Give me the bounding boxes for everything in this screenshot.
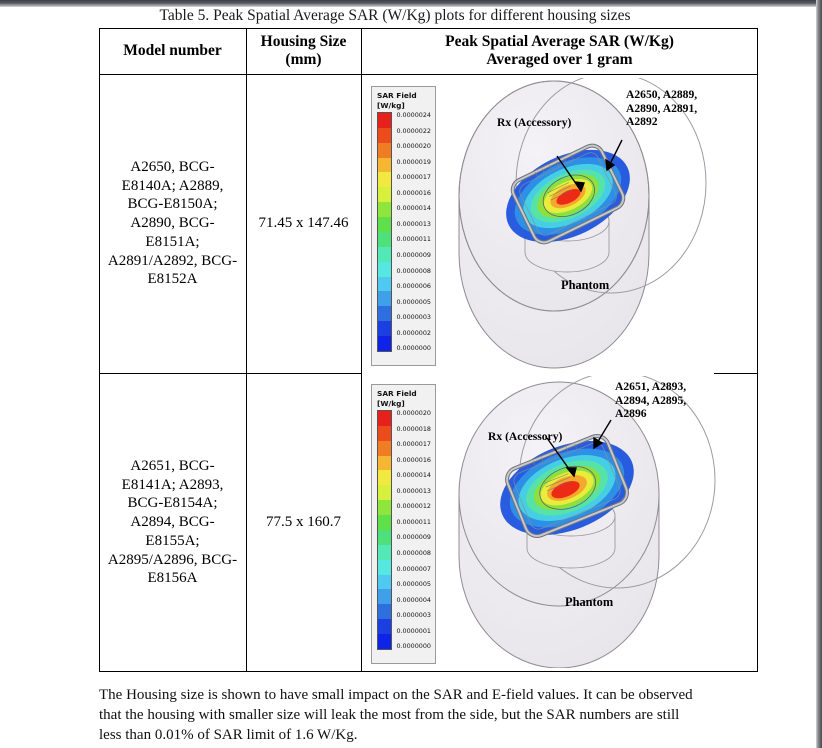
- legend-colorbar-segment: [378, 485, 391, 500]
- rx-accessory-annotation: Rx (Accessory): [497, 116, 571, 130]
- legend-tick-label: 0.0000000: [396, 345, 431, 351]
- column-header-peak-sar-line2: Averaged over 1 gram: [486, 51, 632, 69]
- legend-colorbar-segment: [378, 530, 391, 545]
- legend-colorbar-segment: [378, 172, 391, 187]
- device-model-annotation: A2651, A2893, A2894, A2895, A2896: [615, 380, 686, 421]
- legend-colorbar-segment: [378, 232, 391, 247]
- housing-size-value: 77.5 x 160.7: [266, 514, 341, 531]
- column-header-housing-size-line2: (mm): [285, 51, 321, 69]
- sar-3d-plot-row1: [439, 78, 754, 370]
- legend-title: SAR Field: [377, 91, 431, 101]
- legend-tick-label: 0.0000009: [396, 252, 431, 258]
- legend-tick-label: 0.0000014: [396, 205, 431, 211]
- legend-colorbar-segment: [378, 604, 391, 619]
- legend-colorbar-segment: [378, 321, 391, 336]
- closing-paragraph: The Housing size is shown to have small …: [99, 685, 699, 745]
- device-model-annotation: A2650, A2889, A2890, A2891, A2892: [626, 88, 697, 129]
- column-header-housing-size: Housing Size (mm): [246, 28, 361, 74]
- legend-tick-labels: 0.00000200.00000180.00000170.00000160.00…: [392, 410, 431, 650]
- legend-tick-label: 0.0000017: [396, 441, 431, 447]
- legend-tick-label: 0.0000001: [396, 628, 431, 634]
- table-row: A2650, BCG-E8140A; A2889, BCG-E8150A; A2…: [99, 74, 246, 373]
- legend-colorbar-segment: [378, 441, 391, 456]
- table-caption: Table 5. Peak Spatial Average SAR (W/Kg)…: [0, 7, 790, 25]
- legend-tick-label: 0.0000004: [396, 597, 431, 603]
- legend-colorbar-segment: [378, 470, 391, 485]
- legend-tick-label: 0.0000020: [396, 143, 431, 149]
- legend-colorbar-segment: [378, 545, 391, 560]
- legend-tick-label: 0.0000005: [396, 581, 431, 587]
- legend-tick-label: 0.0000003: [396, 314, 431, 320]
- column-header-model-number: Model number: [99, 28, 246, 74]
- legend-colorbar-segment: [378, 291, 391, 306]
- legend-colorbar-segment: [378, 515, 391, 530]
- legend-colorbar-segment: [378, 456, 391, 471]
- model-number-value: A2651, BCG-E8141A; A2893, BCG-E8154A; A2…: [105, 457, 240, 588]
- legend-colorbar-segment: [378, 426, 391, 441]
- sar-plot-cell-row2: SAR Field [W/kg] 0.00000200.00000180.000…: [361, 374, 758, 671]
- column-header-model-number-label: Model number: [123, 42, 222, 60]
- legend-tick-label: 0.0000013: [396, 488, 431, 494]
- housing-size-cell: 71.45 x 147.46: [246, 74, 361, 373]
- legend-tick-label: 0.0000009: [396, 534, 431, 540]
- legend-unit: [W/kg]: [377, 399, 431, 409]
- legend-tick-label: 0.0000024: [396, 112, 431, 118]
- legend-colorbar: [377, 112, 392, 352]
- legend-tick-label: 0.0000016: [396, 457, 431, 463]
- legend-colorbar-segment: [378, 277, 391, 292]
- legend-unit: [W/kg]: [377, 101, 431, 111]
- legend-tick-labels: 0.00000240.00000220.00000200.00000190.00…: [392, 112, 431, 352]
- legend-tick-label: 0.0000002: [396, 330, 431, 336]
- sar-field-legend: SAR Field [W/kg] 0.00000200.00000180.000…: [371, 384, 436, 664]
- legend-tick-label: 0.0000003: [396, 612, 431, 618]
- legend-tick-label: 0.0000007: [396, 566, 431, 572]
- model-number-value: A2650, BCG-E8140A; A2889, BCG-E8150A; A2…: [105, 158, 240, 289]
- legend-tick-label: 0.0000020: [396, 410, 431, 416]
- legend-colorbar-segment: [378, 589, 391, 604]
- legend-colorbar-segment: [378, 306, 391, 321]
- legend-colorbar-segment: [378, 411, 391, 426]
- legend-tick-label: 0.0000022: [396, 128, 431, 134]
- legend-colorbar-segment: [378, 500, 391, 515]
- sar-field-legend: SAR Field [W/kg] 0.00000240.00000220.000…: [371, 86, 436, 366]
- housing-size-value: 71.45 x 147.46: [259, 215, 349, 232]
- legend-colorbar-segment: [378, 217, 391, 232]
- column-header-peak-sar-line1: Peak Spatial Average SAR (W/Kg): [445, 33, 674, 51]
- column-header-peak-sar: Peak Spatial Average SAR (W/Kg) Averaged…: [361, 28, 758, 74]
- window-top-bar: [0, 0, 822, 7]
- window-right-scrollbar[interactable]: [816, 0, 822, 748]
- legend-colorbar-segment: [378, 336, 391, 351]
- legend-colorbar-segment: [378, 143, 391, 158]
- legend-colorbar-segment: [378, 262, 391, 277]
- legend-colorbar-segment: [378, 247, 391, 262]
- legend-tick-label: 0.0000019: [396, 159, 431, 165]
- legend-tick-label: 0.0000011: [396, 236, 431, 242]
- legend-tick-label: 0.0000000: [396, 643, 431, 649]
- legend-colorbar-segment: [378, 128, 391, 143]
- legend-tick-label: 0.0000008: [396, 268, 431, 274]
- legend-tick-label: 0.0000017: [396, 174, 431, 180]
- legend-title: SAR Field: [377, 389, 431, 399]
- phantom-annotation: Phantom: [565, 595, 613, 610]
- rx-accessory-annotation: Rx (Accessory): [488, 430, 562, 444]
- sar-3d-plot-row2: [439, 376, 754, 668]
- legend-tick-label: 0.0000011: [396, 519, 431, 525]
- legend-tick-label: 0.0000014: [396, 472, 431, 478]
- document-page: Table 5. Peak Spatial Average SAR (W/Kg)…: [0, 7, 816, 748]
- legend-colorbar-segment: [378, 560, 391, 575]
- column-header-housing-size-line1: Housing Size: [261, 33, 347, 51]
- legend-tick-label: 0.0000013: [396, 221, 431, 227]
- sar-plot-cell-row1: SAR Field [W/kg] 0.00000240.00000220.000…: [361, 74, 758, 373]
- table-row: A2651, BCG-E8141A; A2893, BCG-E8154A; A2…: [99, 374, 246, 671]
- legend-tick-label: 0.0000016: [396, 190, 431, 196]
- legend-tick-label: 0.0000006: [396, 283, 431, 289]
- legend-tick-label: 0.0000018: [396, 426, 431, 432]
- legend-colorbar: [377, 410, 392, 650]
- legend-colorbar-segment: [378, 634, 391, 649]
- legend-colorbar-segment: [378, 202, 391, 217]
- legend-tick-label: 0.0000012: [396, 503, 431, 509]
- legend-tick-label: 0.0000008: [396, 550, 431, 556]
- legend-tick-label: 0.0000005: [396, 299, 431, 305]
- phantom-annotation: Phantom: [561, 278, 609, 293]
- legend-colorbar-segment: [378, 619, 391, 634]
- legend-colorbar-segment: [378, 575, 391, 590]
- legend-colorbar-segment: [378, 187, 391, 202]
- housing-size-cell: 77.5 x 160.7: [246, 374, 361, 671]
- legend-colorbar-segment: [378, 158, 391, 173]
- sar-table: Model number Housing Size (mm) Peak Spat…: [99, 28, 758, 672]
- legend-colorbar-segment: [378, 113, 391, 128]
